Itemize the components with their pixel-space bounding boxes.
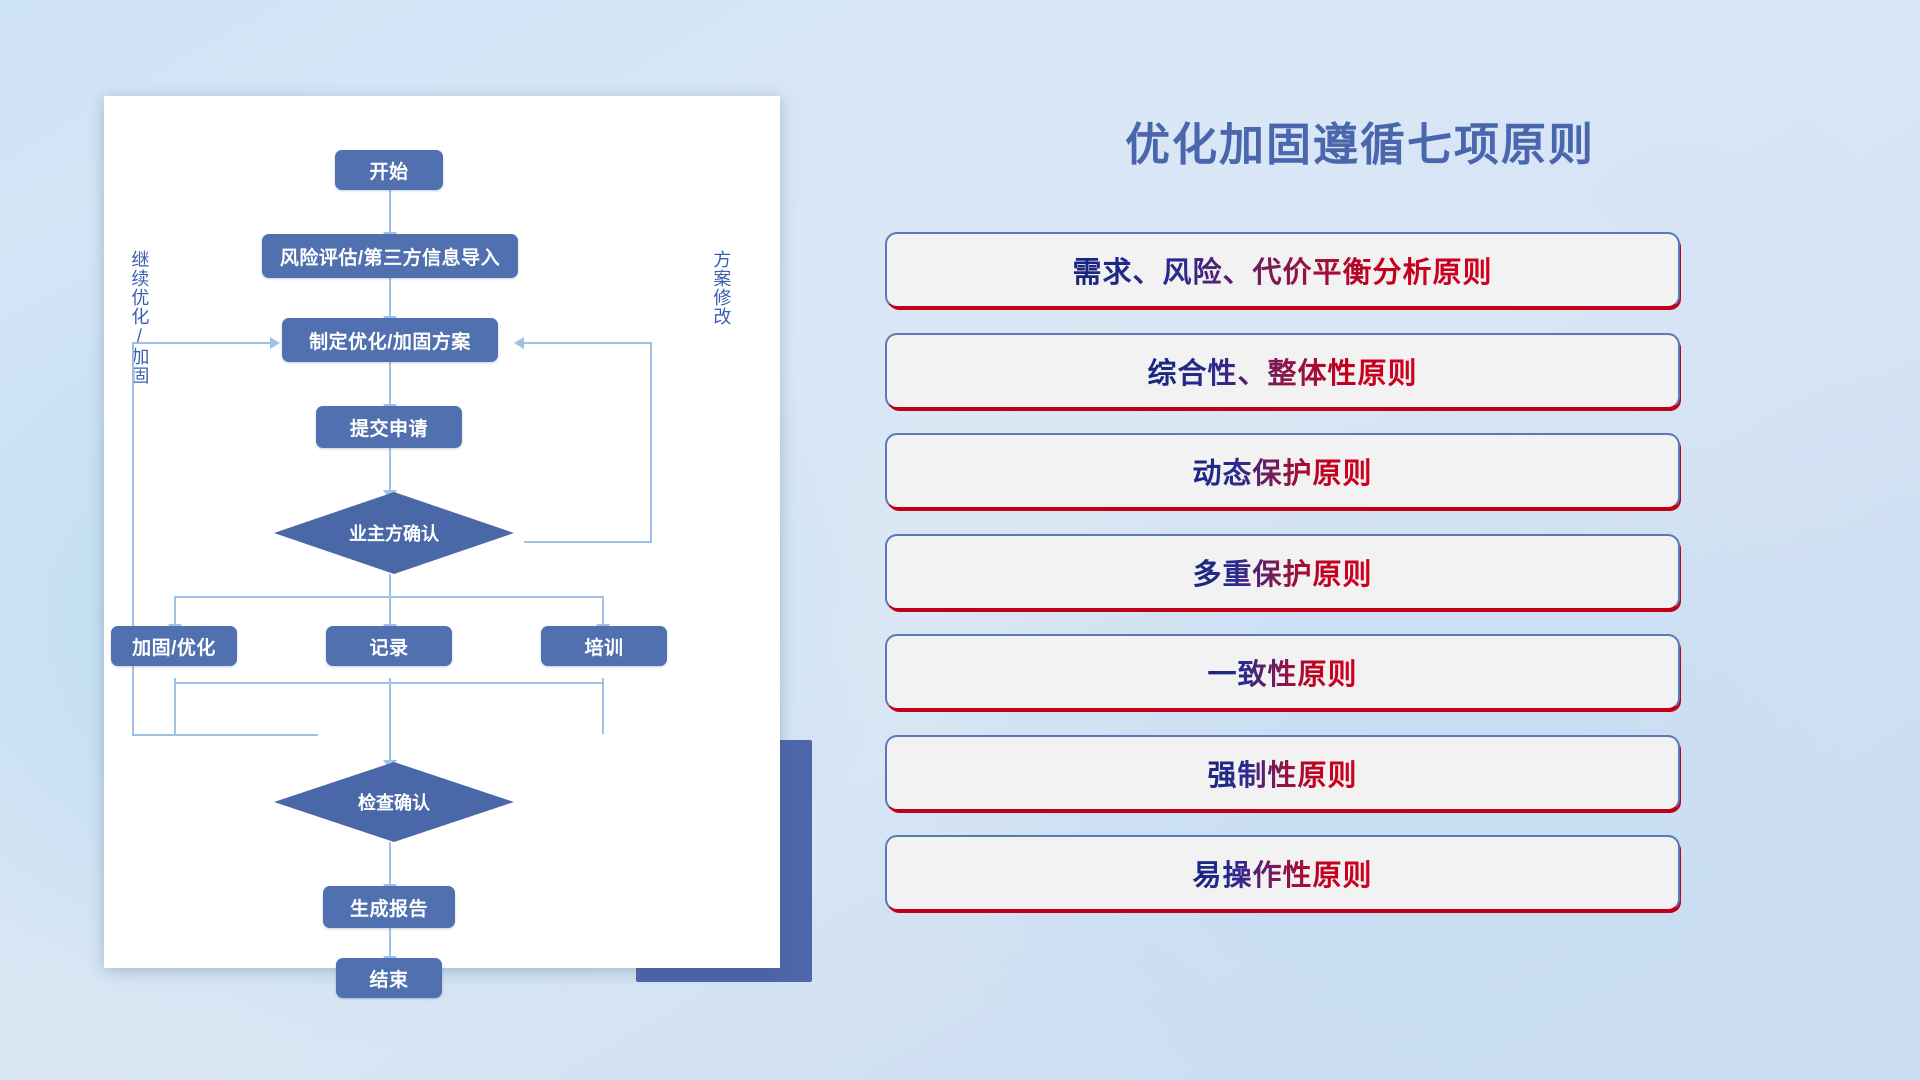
connector-branch-center <box>389 574 391 628</box>
flowchart-card: 继续优化/加固 方案修改 <box>104 96 780 968</box>
connector-left-loop-bottom <box>132 734 318 736</box>
flowchart-panel: 继续优化/加固 方案修改 <box>0 0 860 1080</box>
principle-label: 多重保护原则 <box>1192 551 1372 593</box>
principle-label: 易操作性原则 <box>1192 852 1372 894</box>
principle-label: 综合性、整体性原则 <box>1147 350 1417 392</box>
connector-right-loop-vertical <box>650 342 652 542</box>
connector-merge-right <box>602 678 604 734</box>
flow-node-make-plan[interactable]: 制定优化/加固方案 <box>282 318 498 362</box>
principle-card[interactable]: 强制性原则 <box>885 735 1680 811</box>
connector-merge-center <box>389 678 391 764</box>
connector-check-to-report <box>389 842 391 888</box>
principle-label: 一致性原则 <box>1207 651 1357 693</box>
connector-submit-to-owner <box>389 448 391 494</box>
principle-label: 需求、风险、代价平衡分析原则 <box>1072 249 1492 291</box>
connector-right-loop-bottom <box>524 541 652 543</box>
principle-card[interactable]: 动态保护原则 <box>885 433 1680 509</box>
connector-risk-to-plan <box>389 276 391 320</box>
list-item[interactable]: 综合性、整体性原则 <box>885 333 1835 434</box>
flow-node-record[interactable]: 记录 <box>326 626 452 666</box>
principle-card[interactable]: 易操作性原则 <box>885 835 1680 911</box>
connector-plan-to-submit <box>389 360 391 408</box>
principle-card[interactable]: 综合性、整体性原则 <box>885 333 1680 409</box>
list-item[interactable]: 需求、风险、代价平衡分析原则 <box>885 232 1835 333</box>
edge-label-plan-revision: 方案修改 <box>712 250 730 326</box>
principles-panel: 优化加固遵循七项原则 需求、风险、代价平衡分析原则 综合性、整体性原则 动态保护… <box>860 0 1920 1080</box>
page-title: 优化加固遵循七项原则 <box>860 108 1860 173</box>
connector-start-to-risk <box>389 188 391 236</box>
flow-node-start[interactable]: 开始 <box>335 150 443 190</box>
principle-label: 强制性原则 <box>1207 752 1357 794</box>
list-item[interactable]: 强制性原则 <box>885 735 1835 836</box>
principle-label: 动态保护原则 <box>1192 450 1372 492</box>
list-item[interactable]: 多重保护原则 <box>885 534 1835 635</box>
flow-node-owner-confirm[interactable]: 业主方确认 <box>274 492 514 574</box>
flow-node-submit-application[interactable]: 提交申请 <box>316 406 462 448</box>
list-item[interactable]: 一致性原则 <box>885 634 1835 735</box>
list-item[interactable]: 动态保护原则 <box>885 433 1835 534</box>
flow-node-risk-assessment[interactable]: 风险评估/第三方信息导入 <box>262 234 518 278</box>
principle-card[interactable]: 多重保护原则 <box>885 534 1680 610</box>
principle-card[interactable]: 需求、风险、代价平衡分析原则 <box>885 232 1680 308</box>
flow-node-end[interactable]: 结束 <box>336 958 442 998</box>
principle-card[interactable]: 一致性原则 <box>885 634 1680 710</box>
list-item[interactable]: 易操作性原则 <box>885 835 1835 936</box>
flow-node-check-confirm[interactable]: 检查确认 <box>274 762 514 842</box>
connector-right-loop-top <box>524 342 652 344</box>
connector-left-loop-top <box>132 342 272 344</box>
arrowhead-right <box>270 337 280 349</box>
flow-node-training[interactable]: 培训 <box>541 626 667 666</box>
flow-node-generate-report[interactable]: 生成报告 <box>323 886 455 928</box>
connector-merge-left <box>174 678 176 734</box>
principles-list: 需求、风险、代价平衡分析原则 综合性、整体性原则 动态保护原则 多重保护原则 一… <box>885 232 1835 936</box>
flow-node-reinforce[interactable]: 加固/优化 <box>111 626 237 666</box>
arrowhead-left <box>514 337 524 349</box>
connector-left-loop-vertical <box>132 342 134 736</box>
